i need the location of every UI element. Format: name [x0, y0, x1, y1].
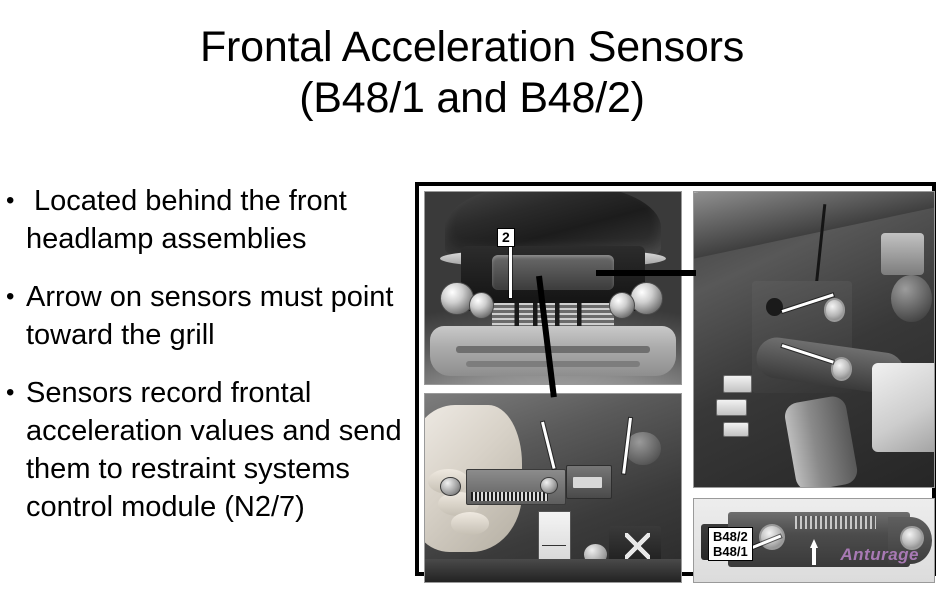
slide-root: Frontal Acceleration Sensors (B48/1 and … [0, 0, 944, 596]
bullet-text: Located behind the front headlamp assemb… [24, 182, 406, 258]
bullet-marker-icon: • [6, 278, 24, 316]
callout-label-b48-closeup: B48/2 B48/1 [708, 527, 753, 561]
bolt-head-upper [824, 298, 846, 322]
list-item: • Sensors record frontal acceleration va… [6, 374, 406, 526]
photo-panel-mounting-detail: 1 [693, 191, 935, 488]
page-title: Frontal Acceleration Sensors (B48/1 and … [0, 22, 944, 124]
list-item: • Located behind the front headlamp asse… [6, 182, 406, 258]
bolt-head-lower [831, 357, 853, 381]
direction-arrow-icon [810, 539, 818, 565]
bullet-marker-icon: • [6, 374, 24, 412]
photo-vehicle-front [425, 192, 681, 384]
photo-panel-sensor-closeup: B48/2 B48/1 [693, 498, 935, 583]
photo-panel-vehicle-front: 2 [424, 191, 682, 385]
page-title-line-2: (B48/1 and B48/2) [0, 73, 944, 124]
figure-frame: 2 [415, 182, 936, 576]
callout-label-2: 2 [497, 228, 515, 247]
bullet-list: • Located behind the front headlamp asse… [6, 182, 406, 546]
leader-line-2 [509, 242, 512, 298]
photo-panel-hand-sensor: B48/2 B48/1 3 [424, 393, 682, 583]
page-title-line-1: Frontal Acceleration Sensors [0, 22, 944, 73]
connector-line-horizontal [596, 270, 696, 276]
list-item: • Arrow on sensors must point toward the… [6, 278, 406, 354]
bullet-marker-icon: • [6, 182, 24, 220]
figure-inner: 2 [424, 191, 927, 567]
photo-mounting-detail [694, 192, 934, 487]
bullet-text: Sensors record frontal acceleration valu… [24, 374, 406, 526]
photo-hand-sensor [425, 394, 681, 582]
bullet-text: Arrow on sensors must point toward the g… [24, 278, 406, 354]
watermark-text: Anturage [840, 545, 919, 565]
